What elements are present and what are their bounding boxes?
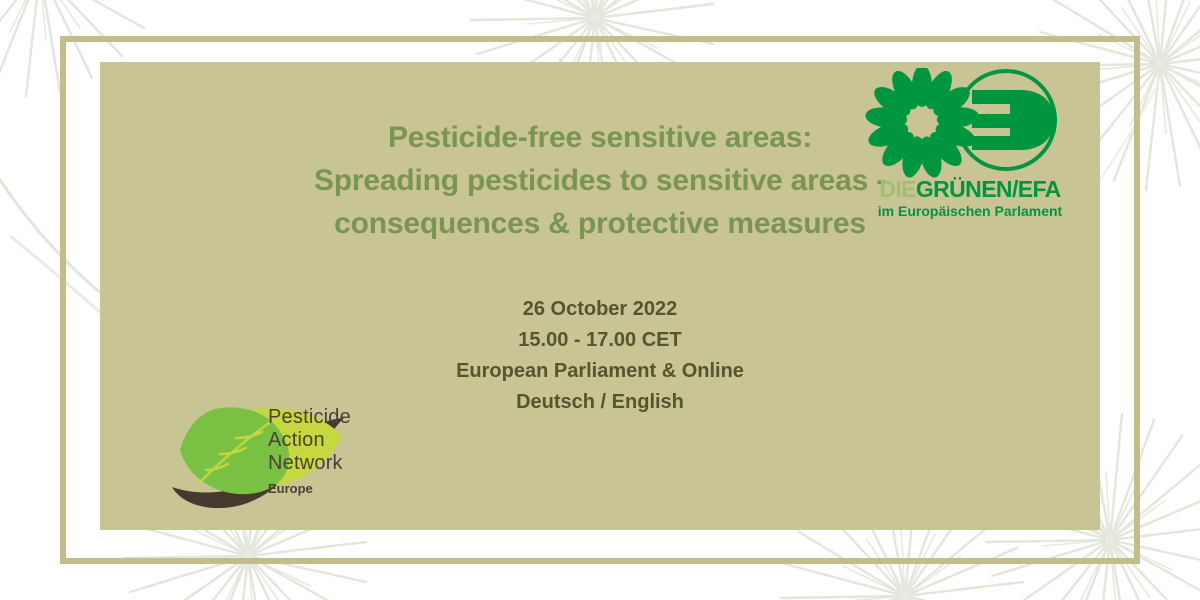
greens-sunflower-and-efa-icon	[860, 68, 1080, 180]
greens-wordmark: DIEGRÜNEN/EFA im Europäischen Parlament	[860, 178, 1080, 218]
event-time: 15.00 - 17.00 CET	[140, 325, 1060, 356]
greens-word-gruenen-efa: GRÜNEN/EFA	[916, 176, 1061, 202]
event-location: European Parliament & Online	[140, 356, 1060, 387]
pesticide-action-network-europe-logo: Pesticide Action Network Europe	[158, 392, 428, 517]
greens-wordmark-row1: DIEGRÜNEN/EFA	[860, 178, 1080, 201]
greens-word-die: DIE	[879, 176, 916, 202]
die-gruenen-efa-logo: DIEGRÜNEN/EFA im Europäischen Parlament	[860, 68, 1080, 233]
event-date: 26 October 2022	[140, 294, 1060, 325]
pan-line-network: Network	[268, 452, 351, 475]
poster-canvas: Pesticide-free sensitive areas: Spreadin…	[0, 0, 1200, 600]
pan-line-pesticide: Pesticide	[268, 406, 351, 429]
pan-wordmark: Pesticide Action Network Europe	[268, 406, 351, 500]
pan-line-action: Action	[268, 429, 351, 452]
greens-subtitle: im Europäischen Parlament	[860, 204, 1080, 218]
pan-line-europe: Europe	[268, 477, 351, 500]
content-panel: Pesticide-free sensitive areas: Spreadin…	[100, 62, 1100, 530]
